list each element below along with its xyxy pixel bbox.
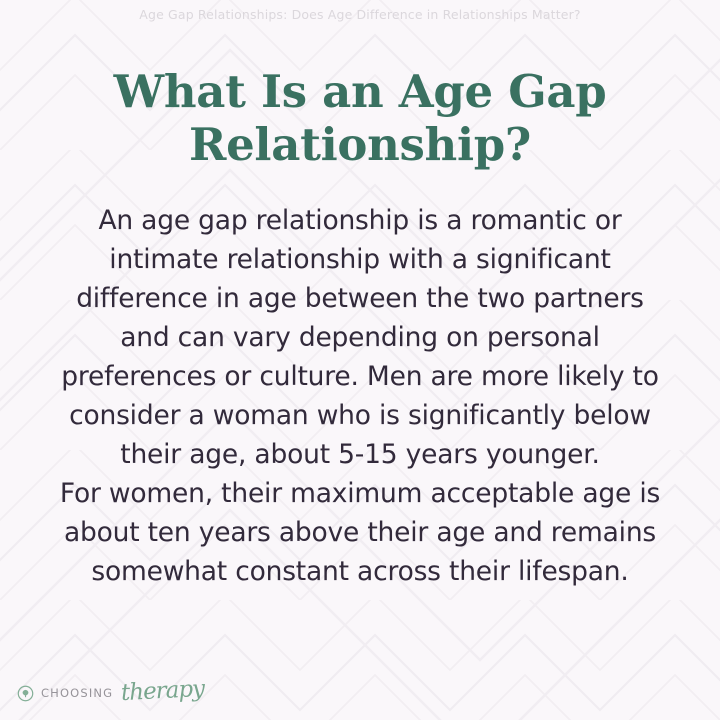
body-line: difference in age between the two partne… xyxy=(55,279,665,318)
body-line: preferences or culture. Men are more lik… xyxy=(55,357,665,396)
body-line: about ten years above their age and rema… xyxy=(55,513,665,552)
body-line: consider a woman who is significantly be… xyxy=(55,396,665,435)
body-line: their age, about 5-15 years younger. xyxy=(55,435,665,474)
choosing-therapy-badge-icon xyxy=(17,685,34,702)
body-line: An age gap relationship is a romantic or xyxy=(55,201,665,240)
body-paragraph: An age gap relationship is a romantic or… xyxy=(55,201,665,591)
logo-script-text: therapy xyxy=(121,676,205,706)
infographic-card: Age Gap Relationships: Does Age Differen… xyxy=(0,0,720,720)
body-line: somewhat constant across their lifespan. xyxy=(55,552,665,591)
choosing-therapy-logo: CHOOSING therapy xyxy=(17,682,204,704)
body-line: intimate relationship with a significant xyxy=(55,240,665,279)
logo-wordmark: CHOOSING xyxy=(41,686,113,700)
page-title: What Is an Age Gap Relationship? xyxy=(60,65,660,171)
body-line: and can vary depending on personal xyxy=(55,318,665,357)
body-line: For women, their maximum acceptable age … xyxy=(55,474,665,513)
source-title: Age Gap Relationships: Does Age Differen… xyxy=(0,7,720,22)
